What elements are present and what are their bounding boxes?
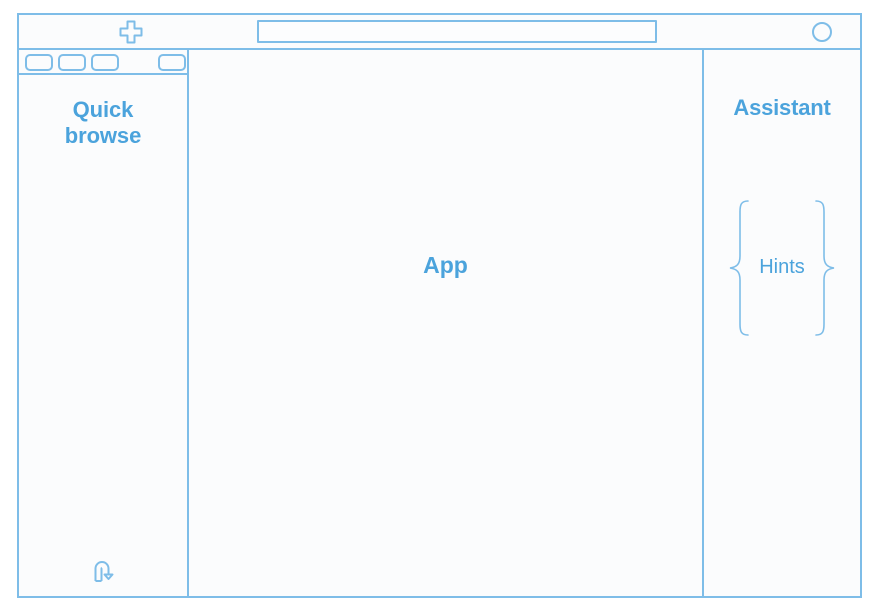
hints-label: Hints [753, 256, 811, 279]
plus-icon [118, 19, 144, 45]
wireframe-root: Quick browse [0, 0, 879, 616]
sidebar-footer [19, 550, 187, 590]
browser-window: Quick browse [17, 13, 862, 598]
quick-browse-title: Quick browse [19, 97, 187, 149]
quick-browse-sidebar: Quick browse [19, 50, 189, 596]
app-content-panel[interactable]: App [189, 50, 704, 596]
quick-browse-title-line-1: Quick [19, 97, 187, 123]
assistant-panel: Assistant Hints [704, 50, 860, 596]
window-body: Quick browse [19, 50, 860, 596]
new-tab-button[interactable] [96, 15, 166, 48]
title-bar [19, 15, 860, 50]
quick-browse-title-line-2: browse [19, 123, 187, 149]
address-search-input[interactable] [257, 20, 657, 43]
sidebar-toolbar [19, 50, 187, 75]
right-curly-brace-icon [811, 198, 837, 338]
sidebar-tool-button-3[interactable] [91, 54, 119, 71]
sidebar-tool-button-4[interactable] [158, 54, 186, 71]
left-curly-brace-icon [727, 198, 753, 338]
app-label: App [189, 252, 702, 279]
sidebar-tool-button-2[interactable] [58, 54, 86, 71]
hints-group: Hints [716, 195, 848, 340]
circle-avatar-icon[interactable] [812, 22, 832, 42]
return-arrow-icon[interactable] [87, 554, 119, 586]
sidebar-tool-button-1[interactable] [25, 54, 53, 71]
assistant-title: Assistant [704, 95, 860, 121]
sidebar-content: Quick browse [19, 75, 187, 596]
